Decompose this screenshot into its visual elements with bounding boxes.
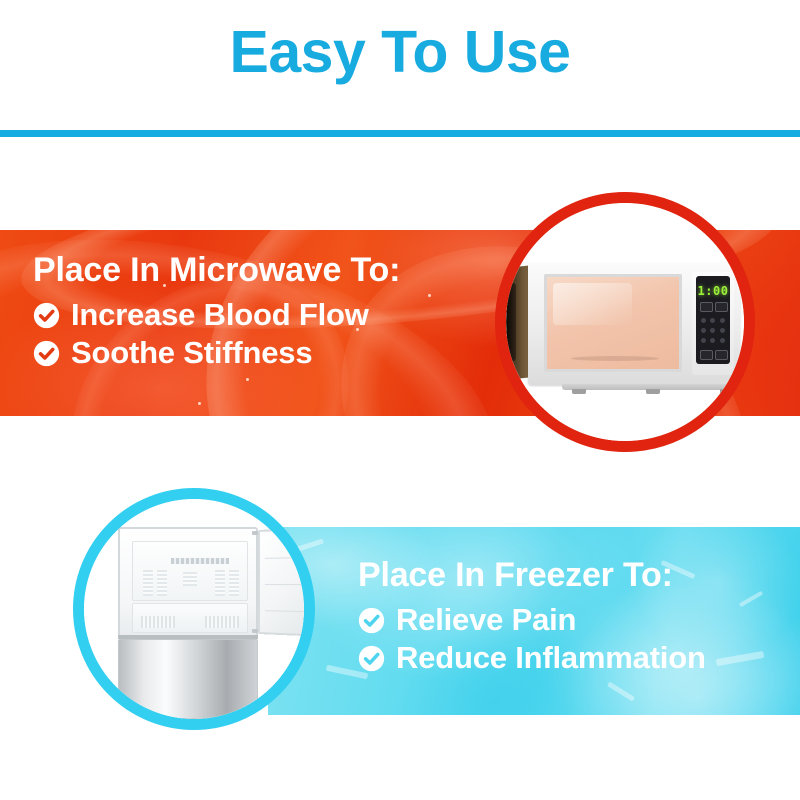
list-item-label: Reduce Inflammation [396,641,706,676]
microwave-benefit-list: Increase Blood Flow Soothe Stiffness [33,298,400,370]
freezer-back-panel [132,541,248,601]
door-shelf [265,610,304,612]
spark-icon [428,294,431,297]
frost-shard-icon [607,681,635,701]
frost-shard-icon [739,591,764,607]
page-title: Easy To Use [0,18,800,88]
list-item: Soothe Stiffness [33,336,400,371]
list-item-label: Relieve Pain [396,603,576,638]
door-hinge [252,531,258,535]
microwave-control-panel[interactable]: 1:00 [692,272,734,375]
freezer-slot [215,570,225,596]
check-circle-icon [33,302,60,329]
microwave-key-dot[interactable] [701,318,706,323]
refrigerator-lower-door [118,639,258,719]
freezer-slot [229,570,239,596]
microwave-heading: Place In Microwave To: [33,252,400,289]
freezer-compartment [118,527,258,637]
freezer-banner: Place In Freezer To: Relieve Pain Reduce… [268,527,800,715]
microwave-foot [646,389,660,394]
microwave-key-dot[interactable] [701,328,706,333]
microwave-foot [572,389,586,394]
microwave-key[interactable] [700,302,713,312]
freezer-slot [143,570,153,596]
microwave-text-block: Place In Microwave To: Increase Blood Fl… [33,252,400,371]
list-item: Relieve Pain [358,603,706,638]
infographic-page: Easy To Use Place In Microwave To: Incre… [0,0,800,800]
door-hinge [252,629,258,633]
microwave-key-dot[interactable] [710,328,715,333]
microwave-display-time: 1:00 [696,284,730,298]
microwave-door-edge [507,283,516,362]
freezer-vent [141,616,175,628]
refrigerator-open-door [258,527,304,636]
list-item: Increase Blood Flow [33,298,400,333]
check-circle-icon [358,645,385,672]
refrigerator-photo-circle [73,488,315,730]
microwave-key-dot[interactable] [701,338,706,343]
microwave-stop-key[interactable] [715,350,728,360]
microwave-cavity [544,274,682,372]
check-circle-icon [358,607,385,634]
freezer-sticker [171,558,229,564]
door-shelf [265,557,304,559]
freezer-center-vent [183,572,197,586]
microwave-key-dot[interactable] [720,338,725,343]
cavity-sheen [553,283,632,325]
spark-icon [198,402,201,405]
refrigerator-photo [84,499,304,719]
microwave-key-dot[interactable] [720,328,725,333]
microwave-key-dot[interactable] [720,318,725,323]
list-item: Reduce Inflammation [358,641,706,676]
microwave-screen: 1:00 [696,276,730,364]
freezer-benefit-list: Relieve Pain Reduce Inflammation [358,603,706,675]
frost-shard-icon [716,651,764,666]
microwave-key[interactable] [715,302,728,312]
microwave-foot [720,389,734,394]
microwave-key-dot[interactable] [710,318,715,323]
freezer-vent [205,616,239,628]
microwave-start-key[interactable] [700,350,713,360]
list-item-label: Soothe Stiffness [71,336,312,371]
door-shelf [265,584,304,585]
microwave-appliance-illustration: 1:00 [506,263,744,391]
freezer-text-block: Place In Freezer To: Relieve Pain Reduce… [358,557,706,676]
freezer-heading: Place In Freezer To: [358,557,706,594]
freezer-slot [157,570,167,596]
microwave-photo-circle: 1:00 [495,192,755,452]
spark-icon [246,378,249,381]
microwave-photo: 1:00 [506,203,744,441]
microwave-turntable [571,356,659,361]
microwave-body: 1:00 [528,263,740,385]
microwave-key-dot[interactable] [710,338,715,343]
title-divider [0,130,800,137]
freezer-lower-panel [132,603,248,633]
check-circle-icon [33,340,60,367]
list-item-label: Increase Blood Flow [71,298,369,333]
refrigerator-appliance-illustration [108,527,304,719]
